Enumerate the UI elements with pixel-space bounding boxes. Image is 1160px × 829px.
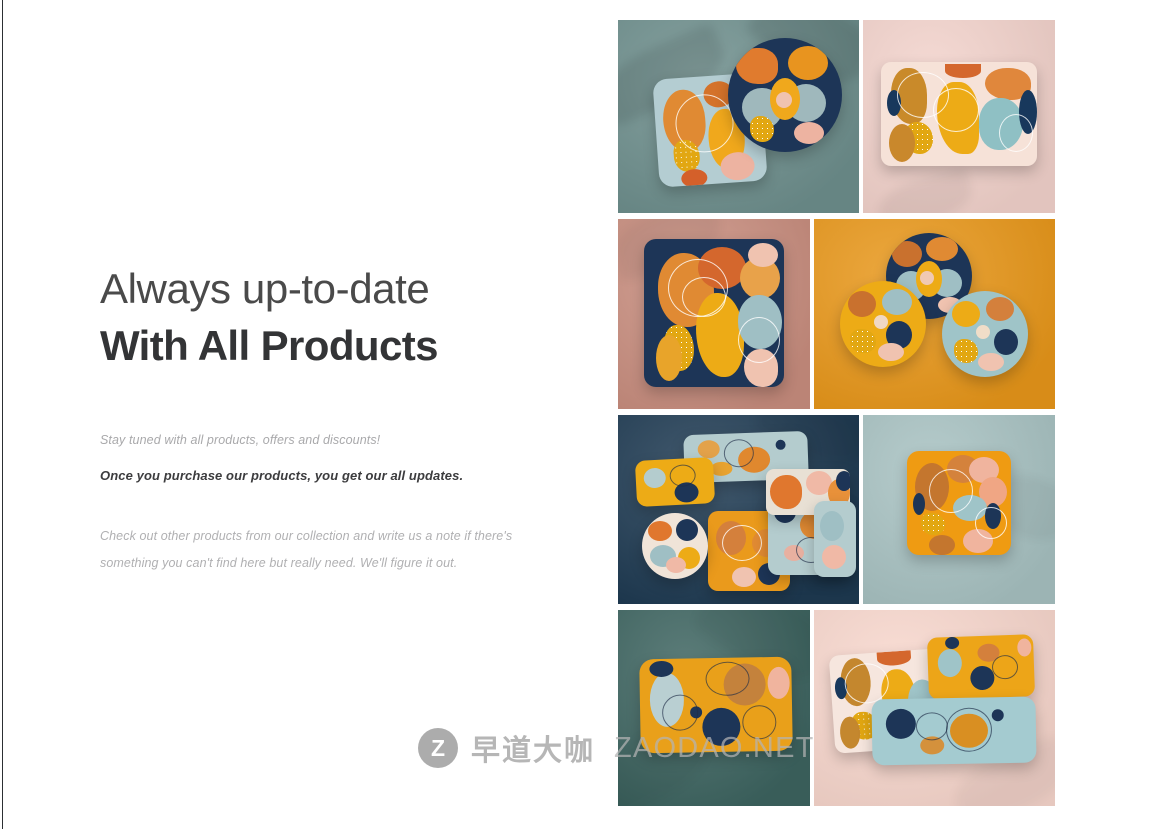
- product-pillow-lumbar-blush: [881, 62, 1037, 166]
- mosaic-cell-sage-orange-pillow[interactable]: [863, 415, 1055, 604]
- lede-line-normal: Stay tuned with all products, offers and…: [100, 431, 570, 450]
- mosaic-row: [618, 20, 1055, 213]
- product-pillow-navy-square: [644, 239, 784, 387]
- mosaic-cell-terracotta-navy-pillow[interactable]: [618, 219, 810, 410]
- headline-light: Always up-to-date: [100, 264, 570, 314]
- product-pillow-blue-lumbar-front: [871, 696, 1036, 765]
- product-cushion-round-blue: [942, 291, 1028, 377]
- mosaic-cell-dark-teal-orange-lumbar[interactable]: [618, 610, 810, 806]
- mosaic-row: [618, 415, 1055, 604]
- mosaic-cell-pink-three-pillows[interactable]: [814, 610, 1055, 806]
- outro-block: Check out other products from our collec…: [100, 523, 570, 577]
- product-cushion-navy-round: [728, 38, 842, 152]
- mosaic-cell-navy-pillow-collection[interactable]: [618, 415, 859, 604]
- product-pillow-orange-lumbar-top: [927, 634, 1035, 700]
- mosaic-cell-pink-lumbar-pillow[interactable]: [863, 20, 1055, 213]
- mosaic-row: [618, 219, 1055, 410]
- copy-block: Always up-to-date With All Products Stay…: [100, 264, 570, 577]
- watermark-chinese: 早道大咖: [471, 727, 595, 769]
- lede-line-strong: Once you purchase our products, you get …: [100, 466, 570, 486]
- zaodao-logo-icon: Z: [418, 728, 458, 768]
- product-cushion-round-collection: [642, 513, 708, 579]
- page-left-edge: [2, 0, 3, 829]
- product-pillow-orange-abstract: [907, 451, 1011, 555]
- product-pillow-lumbar-orange-small: [635, 457, 715, 507]
- headline-bold: With All Products: [100, 320, 570, 371]
- product-image-mosaic: [618, 20, 1055, 806]
- mosaic-row: [618, 610, 1055, 806]
- product-pillow-lumbar-orange: [639, 656, 793, 753]
- lede-block: Stay tuned with all products, offers and…: [100, 431, 570, 485]
- mosaic-cell-orange-three-round-cushions[interactable]: [814, 219, 1055, 410]
- product-cushion-round-orange: [840, 281, 926, 367]
- outro-line-1: Check out other products from our collec…: [100, 523, 570, 550]
- mosaic-cell-teal-pillow-and-round-cushion[interactable]: [618, 20, 859, 213]
- branch-shadow-icon: [873, 166, 977, 212]
- outro-line-2: something you can't find here but really…: [100, 550, 570, 577]
- product-pillow-blue-tall: [814, 501, 856, 577]
